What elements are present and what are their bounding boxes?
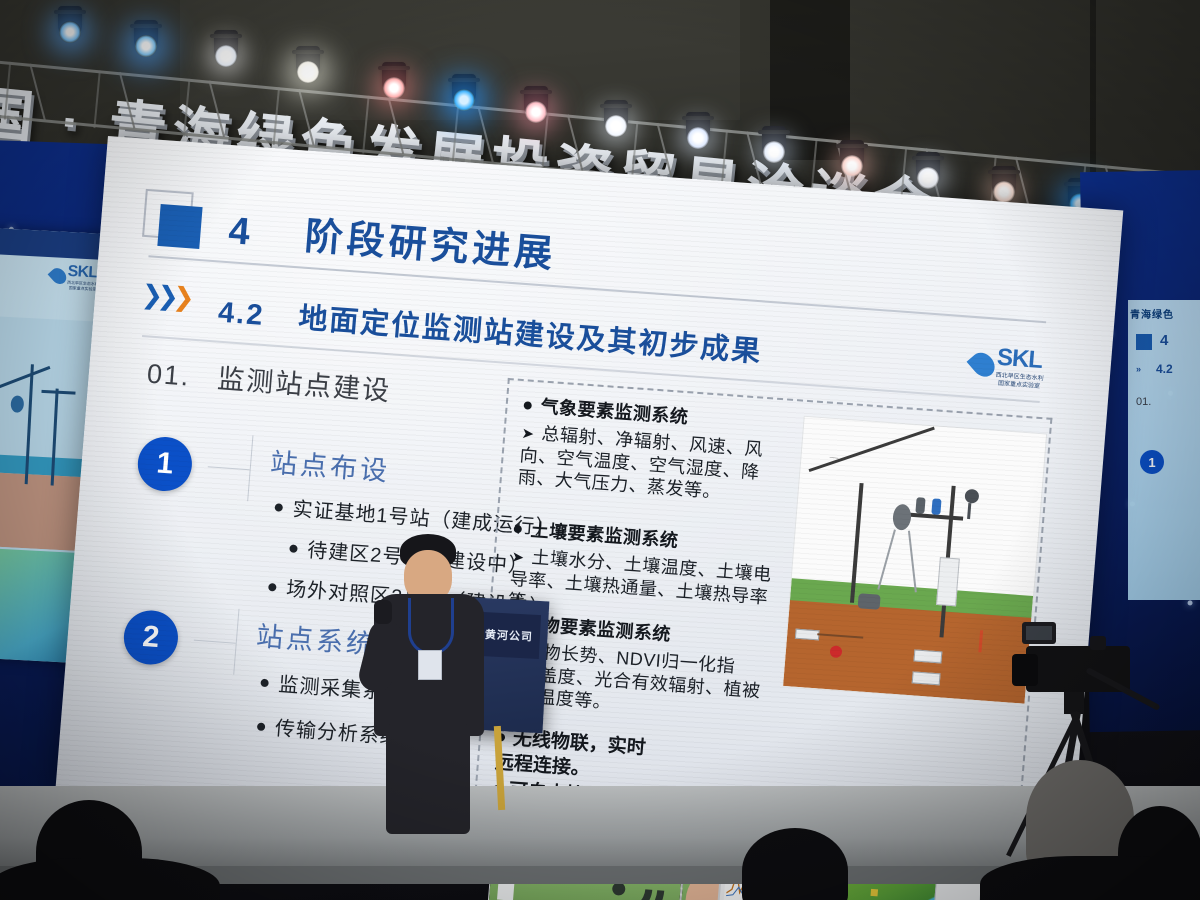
- arrow-bullet-icon: ➤: [511, 549, 525, 567]
- stage-light: [992, 166, 1016, 196]
- water-drop-icon: [967, 348, 1000, 381]
- group-badge-1: 1: [136, 435, 194, 493]
- stage-light: [604, 100, 628, 130]
- speaker-badge: [418, 650, 442, 680]
- stage-light: [214, 30, 238, 60]
- section-number: 4: [227, 210, 255, 254]
- skl-logo-left: SKL 西北旱区生态水利 国家重点实验室: [51, 261, 100, 293]
- stage-light: [840, 140, 864, 170]
- subsection-heading: 4.2 地面定位监测站建设及其初步成果: [217, 289, 764, 371]
- right-monitor-chevron-icon: »: [1136, 364, 1141, 374]
- group-heading-1: 站点布设: [269, 441, 392, 489]
- right-monitor-topic: 01.: [1136, 396, 1151, 408]
- subsection-number: 4.2: [217, 297, 266, 332]
- presentation-photo-scene: 国 · 青海绿色发展投资贸易洽谈会: [0, 0, 1200, 900]
- stage-light: [58, 6, 82, 36]
- stage-light: [524, 86, 548, 116]
- right-monitor-badge: 1: [1140, 450, 1164, 474]
- right-monitor-subsection: 4.2: [1156, 362, 1173, 376]
- camera-viewfinder-icon: [1022, 622, 1056, 644]
- stage-light: [134, 20, 158, 50]
- speaker-legs: [386, 724, 470, 834]
- group-connector-2: [194, 640, 236, 644]
- stage-light: [686, 112, 710, 142]
- stage-light: [296, 46, 320, 76]
- stage-light: [916, 152, 940, 182]
- stage-light: [382, 62, 406, 92]
- skl-logo: SKL 西北旱区生态水利 国家重点实验室: [971, 342, 1046, 391]
- audience-shoulders: [0, 858, 220, 900]
- header-square-solid: [157, 204, 202, 249]
- section-title: 阶段研究进展: [303, 216, 558, 276]
- subsection-title: 地面定位监测站建设及其初步成果: [297, 302, 763, 368]
- topic-title: 监测站点建设: [216, 364, 392, 407]
- diagram-label: ——: [829, 455, 838, 461]
- audience-shoulders: [980, 856, 1200, 900]
- right-monitor-banner: 青海绿色: [1130, 306, 1174, 321]
- speaker-lanyard: [408, 598, 454, 655]
- main-projection-screen: 4 阶段研究进展 ❯❯❯ 4.2 地面定位监测站建设及其初步成果 SKL 西北旱…: [55, 136, 1123, 868]
- topic-heading: 01. 监测站点建设: [146, 352, 393, 409]
- topic-number: 01.: [146, 359, 192, 392]
- right-monitor-section-number: 4: [1160, 332, 1168, 349]
- double-chevron-icon: ❯❯❯: [140, 279, 190, 313]
- speaker: [352, 534, 502, 834]
- stage-light: [452, 74, 476, 104]
- group-badge-2: 2: [122, 609, 180, 667]
- group-connector-1: [208, 466, 250, 470]
- stage-light: [762, 126, 786, 156]
- arrow-bullet-icon: ➤: [521, 425, 535, 443]
- speaker-hand: [374, 600, 392, 624]
- right-preview-monitor: 青海绿色 4 » 4.2 01. 1: [1128, 300, 1200, 600]
- skl-name: SKL: [996, 344, 1046, 375]
